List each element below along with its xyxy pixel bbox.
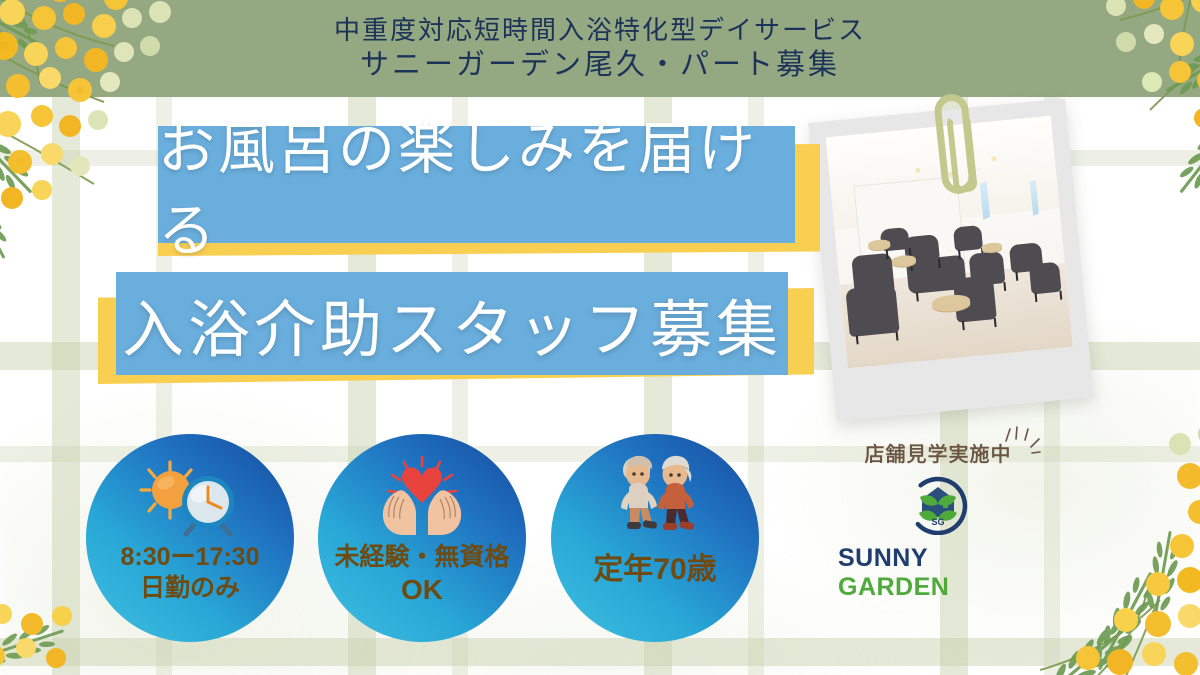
- recruitment-poster: 中重度対応短時間入浴特化型デイサービス サニーガーデン尾久・パート募集 お風呂の…: [0, 0, 1200, 675]
- feature-badge-retirement-age-text: 定年70歳: [593, 542, 716, 589]
- company-name-part-one: SUNNY: [838, 544, 928, 572]
- hands-heart-icon: [368, 438, 476, 542]
- header-text-block: 中重度対応短時間入浴特化型デイサービス サニーガーデン尾久・パート募集: [0, 0, 1200, 97]
- headline-banner-one: お風呂の楽しみを届ける: [140, 126, 820, 256]
- headline-banner-one-text: お風呂の楽しみを届ける: [158, 126, 795, 243]
- feature-badge-experience-text: 未経験・無資格 OK: [334, 542, 509, 607]
- feature-line-1: 未経験・無資格: [334, 542, 509, 573]
- header-subtitle: 中重度対応短時間入浴特化型デイサービス: [334, 14, 866, 47]
- feature-badge-experience: 未経験・無資格 OK: [322, 438, 522, 638]
- headline-banner-two: 入浴介助スタッフ募集: [92, 272, 822, 390]
- feature-badge-retirement-age: 定年70歳: [555, 438, 755, 638]
- company-name: SUNNY GARDEN: [838, 544, 1038, 602]
- store-tour-text: 店舗見学実施中: [865, 444, 1012, 466]
- feature-line-1: 8:30ー17:30: [121, 542, 260, 573]
- headline-banner-two-text: 入浴介助スタッフ募集: [116, 272, 788, 375]
- company-logo-block: 店舗見学実施中: [838, 438, 1038, 578]
- company-name-part-two: GARDEN: [838, 573, 949, 601]
- header-title: サニーガーデン尾久・パート募集: [360, 47, 840, 84]
- walking-seniors-icon: [599, 438, 711, 542]
- svg-text:SG: SG: [931, 517, 944, 527]
- sun-clock-icon: [134, 438, 246, 542]
- feature-badge-hours: 8:30ー17:30 日勤のみ: [90, 438, 290, 638]
- feature-line-2: 日勤のみ: [121, 573, 260, 604]
- sparkle-icon: [998, 425, 1042, 459]
- feature-badge-hours-text: 8:30ー17:30 日勤のみ: [121, 542, 260, 603]
- logo-mark-icon: SG: [907, 475, 969, 540]
- feature-line-1: 定年70歳: [593, 552, 716, 589]
- store-tour-label: 店舗見学実施中: [865, 438, 1012, 467]
- feature-line-2: OK: [334, 573, 509, 607]
